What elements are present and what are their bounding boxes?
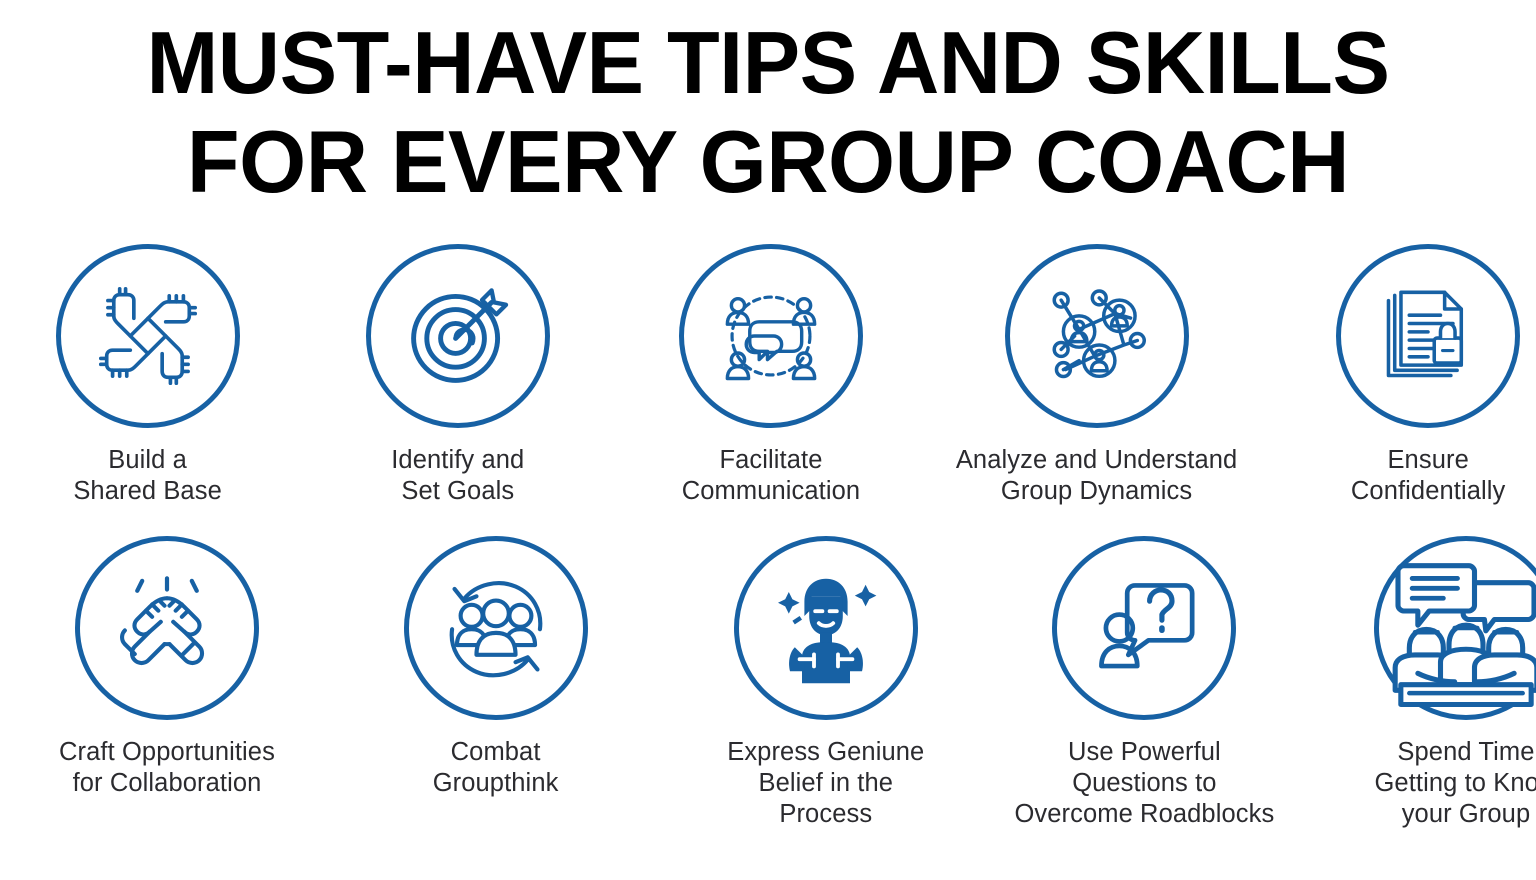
icon-badge: [56, 244, 240, 428]
tip-card-build-shared-base[interactable]: Build a Shared Base: [0, 244, 301, 507]
infographic-poster: MUST-HAVE TIPS AND SKILLS FOR EVERY GROU…: [0, 0, 1536, 880]
tip-label: Identify and Set Goals: [308, 445, 608, 507]
tip-label: Express Geniune Belief in the Process: [676, 737, 976, 830]
icon-badge: [404, 536, 588, 720]
tip-label: Analyze and Understand Group Dynamics: [927, 445, 1267, 507]
icon-badge: [734, 536, 918, 720]
icon-badge: [366, 244, 550, 428]
tip-card-craft-opportunities[interactable]: Craft Opportunities for Collaboration: [0, 536, 337, 799]
tips-row-1: Build a Shared Base Identify: [0, 244, 1536, 507]
tip-card-analyze-group-dynamics[interactable]: Analyze and Understand Group Dynamics: [927, 244, 1267, 507]
tip-card-ensure-confidentially[interactable]: Ensure Confidentially: [1275, 244, 1536, 507]
tip-label: Craft Opportunities for Collaboration: [0, 737, 337, 799]
tip-label: Facilitate Communication: [621, 445, 921, 507]
person-question-bubble-icon: [1088, 572, 1200, 684]
tip-card-facilitate-communication[interactable]: Facilitate Communication: [617, 244, 924, 507]
tip-label: Build a Shared Base: [0, 445, 298, 507]
tip-label: Spend Time Getting to Know your Group: [1316, 737, 1536, 830]
tips-row-2: Craft Opportunities for Collaboration: [0, 536, 1536, 830]
handshake-grip-icon: [105, 566, 229, 690]
tip-label: Combat Groupthink: [346, 737, 646, 799]
icon-badge: [1005, 244, 1189, 428]
tip-label: Ensure Confidentially: [1278, 445, 1536, 507]
tip-label: Use Powerful Questions to Overcome Roadb…: [974, 737, 1314, 830]
target-dart-icon: [398, 276, 518, 396]
meeting-table-bubbles-icon: [1381, 543, 1536, 713]
page-title: MUST-HAVE TIPS AND SKILLS FOR EVERY GROU…: [0, 14, 1536, 211]
icon-badge: [1374, 536, 1536, 720]
icon-badge: [1052, 536, 1236, 720]
tip-card-spend-time-getting-to-know[interactable]: Spend Time Getting to Know your Group: [1312, 536, 1536, 830]
group-discussion-bubbles-icon: [712, 277, 830, 395]
person-sparkles-belief-icon: [766, 568, 886, 688]
icon-badge: [75, 536, 259, 720]
people-cycle-arrows-icon: [435, 567, 557, 689]
four-hands-teamwork-icon: [89, 277, 207, 395]
tip-card-combat-groupthink[interactable]: Combat Groupthink: [342, 536, 649, 799]
icon-badge: [679, 244, 863, 428]
tip-card-identify-set-goals[interactable]: Identify and Set Goals: [304, 244, 611, 507]
title-line-2: FOR EVERY GROUP COACH: [15, 113, 1520, 212]
title-line-1: MUST-HAVE TIPS AND SKILLS: [15, 14, 1520, 113]
tip-card-express-genuine-belief[interactable]: Express Geniune Belief in the Process: [672, 536, 979, 830]
tip-card-use-powerful-questions[interactable]: Use Powerful Questions to Overcome Roadb…: [974, 536, 1314, 830]
icon-badge: [1336, 244, 1520, 428]
network-nodes-people-icon: [1041, 280, 1153, 392]
locked-documents-icon: [1376, 284, 1480, 388]
